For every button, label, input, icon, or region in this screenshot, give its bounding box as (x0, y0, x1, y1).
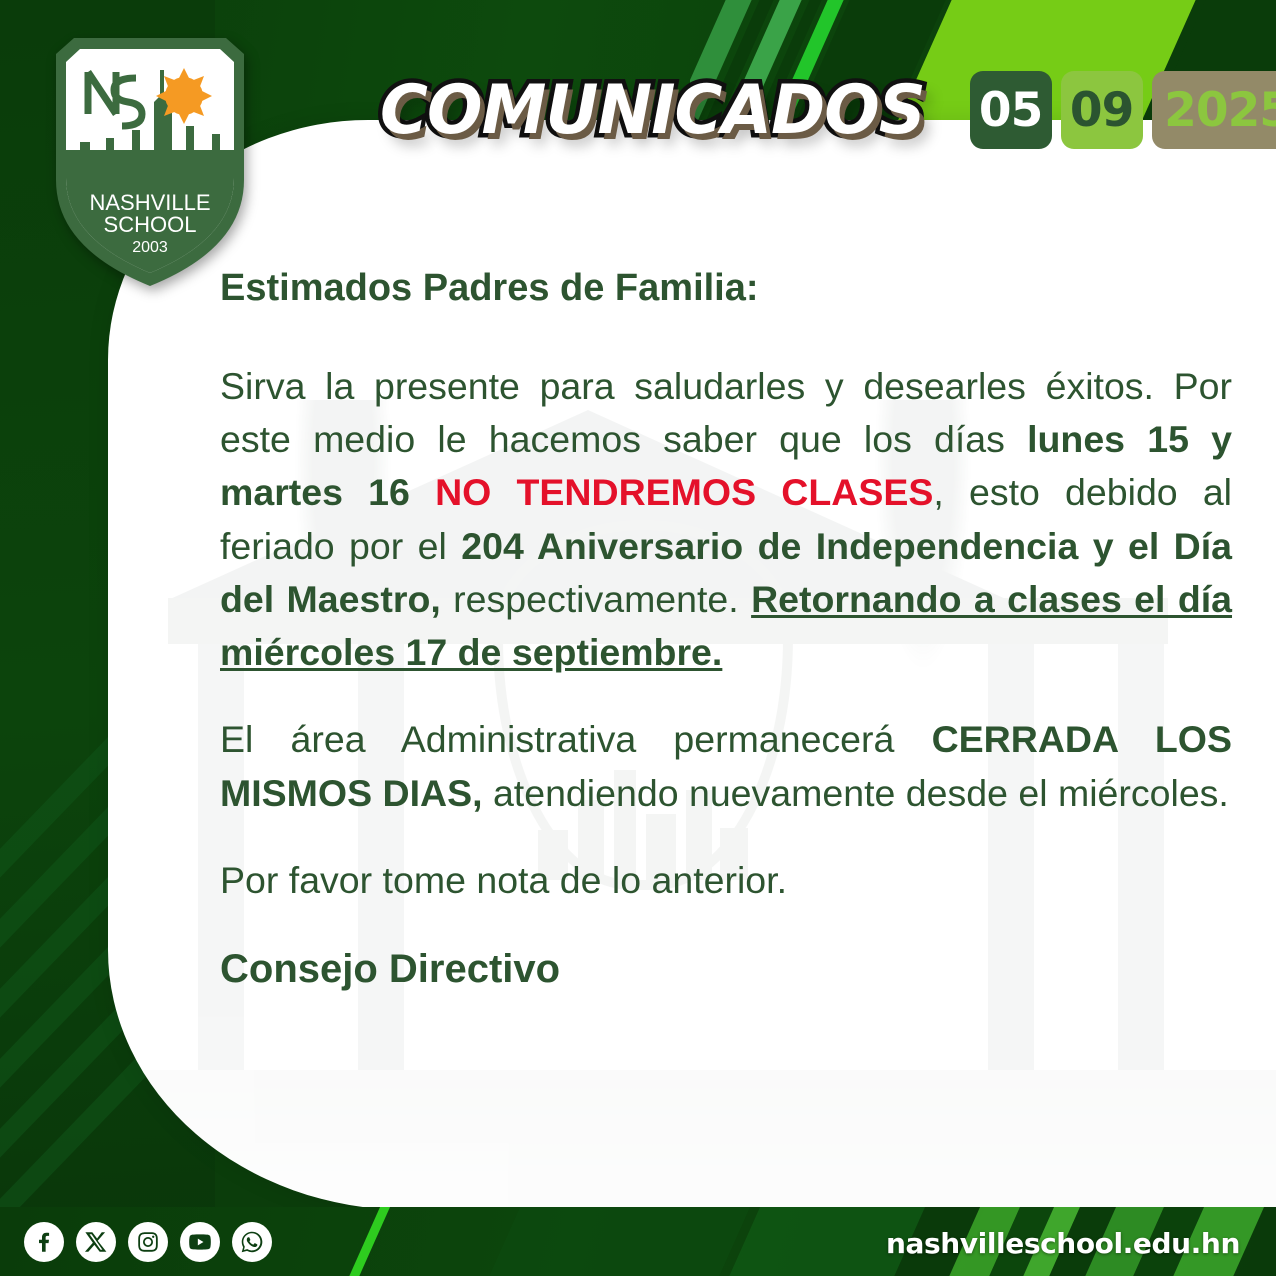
poster-header: COMUNICADOS 05 09 2025 (380, 62, 1240, 158)
paragraph-admin-closed: El área Administrativa permanecerá CERRA… (220, 713, 1232, 820)
social-links (24, 1222, 272, 1262)
announcement-poster: NASHVILLE SCHOOL 2003 COMUNICADOS 05 09 … (0, 0, 1276, 1276)
poster-footer: nashvilleschool.edu.hn (0, 1207, 1276, 1276)
facebook-icon[interactable] (24, 1222, 64, 1262)
p2-reopen: atendiendo nuevamente desde el miércoles… (483, 772, 1229, 814)
youtube-icon[interactable] (180, 1222, 220, 1262)
date-year-badge: 2025 (1152, 71, 1276, 149)
x-twitter-icon[interactable] (76, 1222, 116, 1262)
logo-founded-year: 2003 (132, 239, 168, 256)
p1-respectively: respectivamente. (441, 578, 751, 620)
paragraph-take-note: Por favor tome nota de lo anterior. (220, 854, 1232, 907)
school-logo-shield: NASHVILLE SCHOOL 2003 (44, 30, 256, 292)
p1-space (410, 471, 435, 513)
paragraph-no-classes: Sirva la presente para saludarles y dese… (220, 360, 1232, 680)
logo-school-name-line2: SCHOOL (104, 212, 197, 237)
whatsapp-icon[interactable] (232, 1222, 272, 1262)
p2-intro: El área Administrativa permanecerá (220, 718, 932, 760)
instagram-icon[interactable] (128, 1222, 168, 1262)
announcement-body: Estimados Padres de Familia: Sirva la pr… (220, 262, 1232, 998)
p1-no-classes-alert: NO TENDREMOS CLASES (435, 471, 933, 513)
date-day-badge: 05 (970, 71, 1052, 149)
website-url[interactable]: nashvilleschool.edu.hn (886, 1227, 1240, 1260)
signature: Consejo Directivo (220, 941, 1232, 998)
salutation: Estimados Padres de Familia: (220, 262, 1232, 316)
date-badges: 05 09 2025 (970, 71, 1276, 149)
page-title: COMUNICADOS (380, 71, 925, 150)
date-month-badge: 09 (1061, 71, 1143, 149)
